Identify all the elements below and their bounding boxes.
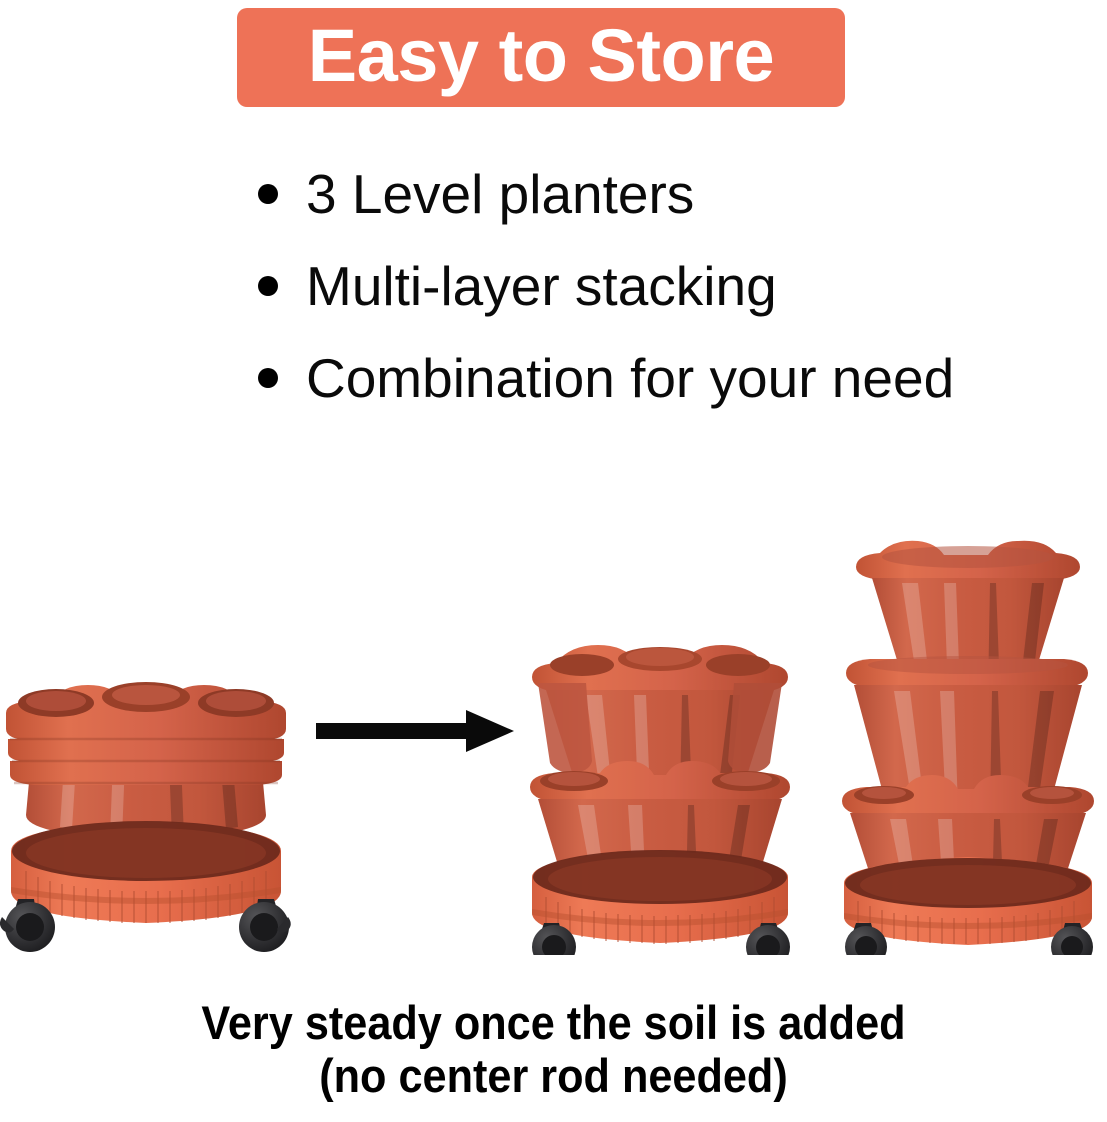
bullet-dot-icon bbox=[258, 276, 278, 296]
list-item: Multi-layer stacking bbox=[258, 240, 1078, 332]
rolling-caddy bbox=[844, 857, 1092, 945]
feature-label: Multi-layer stacking bbox=[306, 259, 777, 314]
feature-label: Combination for your need bbox=[306, 351, 954, 406]
nested-planters-on-caddy bbox=[0, 655, 296, 960]
caption-line-2: (no center rod needed) bbox=[44, 1049, 1062, 1102]
product-infographic: Easy to Store 3 Level planters Multi-lay… bbox=[0, 0, 1107, 1122]
three-tier-stacked-planters-on-caddy bbox=[832, 525, 1104, 960]
list-item: 3 Level planters bbox=[258, 148, 1078, 240]
caption-line-1: Very steady once the soil is added bbox=[44, 996, 1062, 1049]
header-banner: Easy to Store bbox=[237, 8, 845, 107]
list-item: Combination for your need bbox=[258, 332, 1078, 424]
page-title: Easy to Store bbox=[308, 19, 774, 93]
two-tier-stacked-planters-on-caddy bbox=[512, 635, 808, 960]
feature-list: 3 Level planters Multi-layer stacking Co… bbox=[258, 148, 1078, 424]
nested-planters-graphic bbox=[0, 655, 296, 955]
pot-lobe-openings bbox=[18, 682, 274, 717]
three-tier-graphic bbox=[832, 525, 1104, 955]
bullet-dot-icon bbox=[258, 184, 278, 204]
product-illustration-row bbox=[0, 440, 1107, 960]
feature-label: 3 Level planters bbox=[306, 167, 694, 222]
right-arrow-icon bbox=[316, 708, 514, 754]
bottom-caption: Very steady once the soil is added (no c… bbox=[0, 996, 1107, 1102]
two-tier-graphic bbox=[512, 635, 808, 955]
rolling-caddy bbox=[11, 821, 281, 923]
rolling-caddy bbox=[532, 850, 788, 944]
bullet-dot-icon bbox=[258, 368, 278, 388]
